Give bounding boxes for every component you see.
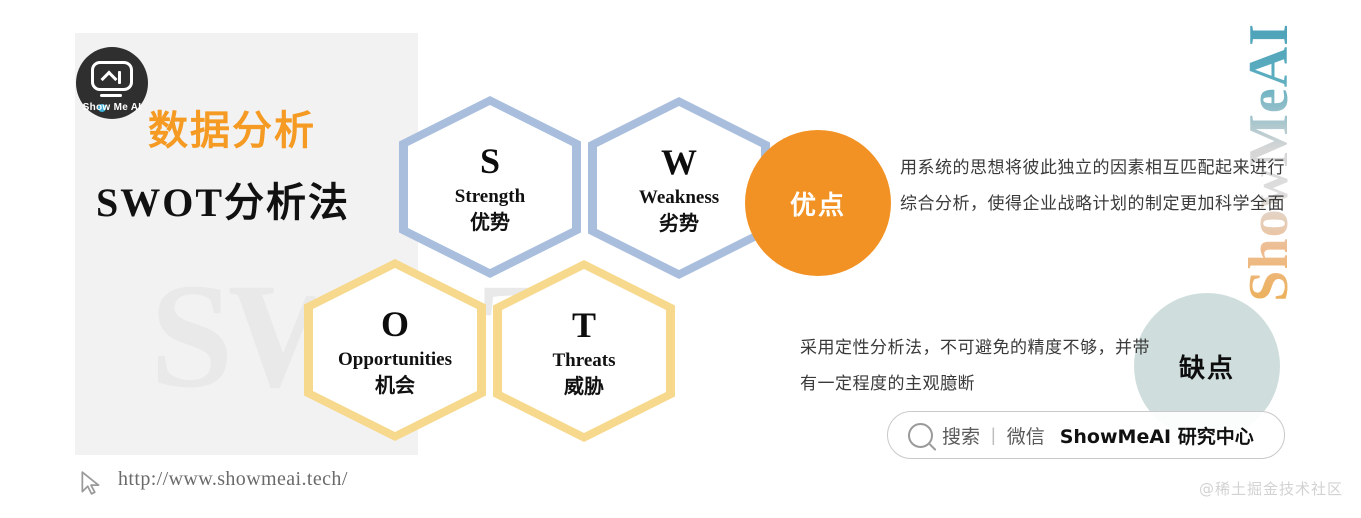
search-label: 搜索 <box>942 422 980 449</box>
hexagon-strength-text: S Strength 优势 <box>455 140 525 234</box>
wechat-search-bar[interactable]: 搜索 | 微信 ShowMeAI 研究中心 <box>887 411 1285 459</box>
hexagon-opportunities-letter: O <box>338 303 452 345</box>
pros-badge[interactable]: 优点 <box>745 130 891 276</box>
showmeai-logo: Show Me AI <box>76 47 148 119</box>
search-divider: | <box>991 425 996 446</box>
hexagon-strength-chinese: 优势 <box>455 211 525 235</box>
pros-description: 用系统的思想将彼此独立的因素相互匹配起来进行综合分析，使得企业战略计划的制定更加… <box>900 150 1300 222</box>
page-title: SWOT分析法 <box>96 170 350 228</box>
hexagon-threats-english: Threats <box>553 350 616 372</box>
hexagon-opportunities-text: O Opportunities 机会 <box>338 303 452 397</box>
hexagon-weakness[interactable]: W Weakness 劣势 <box>588 97 770 279</box>
hexagon-weakness-chinese: 劣势 <box>639 212 719 236</box>
cons-badge-label: 缺点 <box>1179 348 1235 385</box>
hexagon-threats-text: T Threats 威胁 <box>553 304 616 398</box>
cons-description: 采用定性分析法，不可避免的精度不够，并带有一定程度的主观臆断 <box>800 330 1160 402</box>
hexagon-weakness-english: Weakness <box>639 187 719 209</box>
footer-url[interactable]: http://www.showmeai.tech/ <box>118 468 348 491</box>
hexagon-opportunities-english: Opportunities <box>338 349 452 371</box>
hexagon-weakness-letter: W <box>639 141 719 183</box>
swot-infographic: SWOT ShowMeAI ShowMeAI Show Me AI 数据分析 S… <box>0 0 1361 518</box>
robot-mouth-icon <box>100 94 122 97</box>
hexagon-strength-letter: S <box>455 140 525 182</box>
hexagon-strength-english: Strength <box>455 186 525 208</box>
search-brand: ShowMeAI 研究中心 <box>1060 422 1254 449</box>
hexagon-threats-chinese: 威胁 <box>553 375 616 399</box>
robot-face-icon <box>91 61 133 91</box>
hexagon-weakness-text: W Weakness 劣势 <box>639 141 719 235</box>
hexagon-opportunities-chinese: 机会 <box>338 374 452 398</box>
page-eyebrow-title: 数据分析 <box>148 98 316 156</box>
cursor-pointer-icon <box>78 470 104 496</box>
hexagon-strength[interactable]: S Strength 优势 <box>399 96 581 278</box>
caret-up-icon <box>101 71 118 88</box>
bar-icon <box>118 71 121 84</box>
search-channel: 微信 <box>1007 422 1045 449</box>
hexagon-threats[interactable]: T Threats 威胁 <box>493 260 675 442</box>
logo-text: Show Me AI <box>76 102 148 113</box>
pros-badge-label: 优点 <box>790 185 846 222</box>
search-icon <box>908 423 933 448</box>
hexagon-opportunities[interactable]: O Opportunities 机会 <box>304 259 486 441</box>
bottom-watermark: @稀土掘金技术社区 <box>1199 478 1343 499</box>
hexagon-threats-letter: T <box>553 304 616 346</box>
